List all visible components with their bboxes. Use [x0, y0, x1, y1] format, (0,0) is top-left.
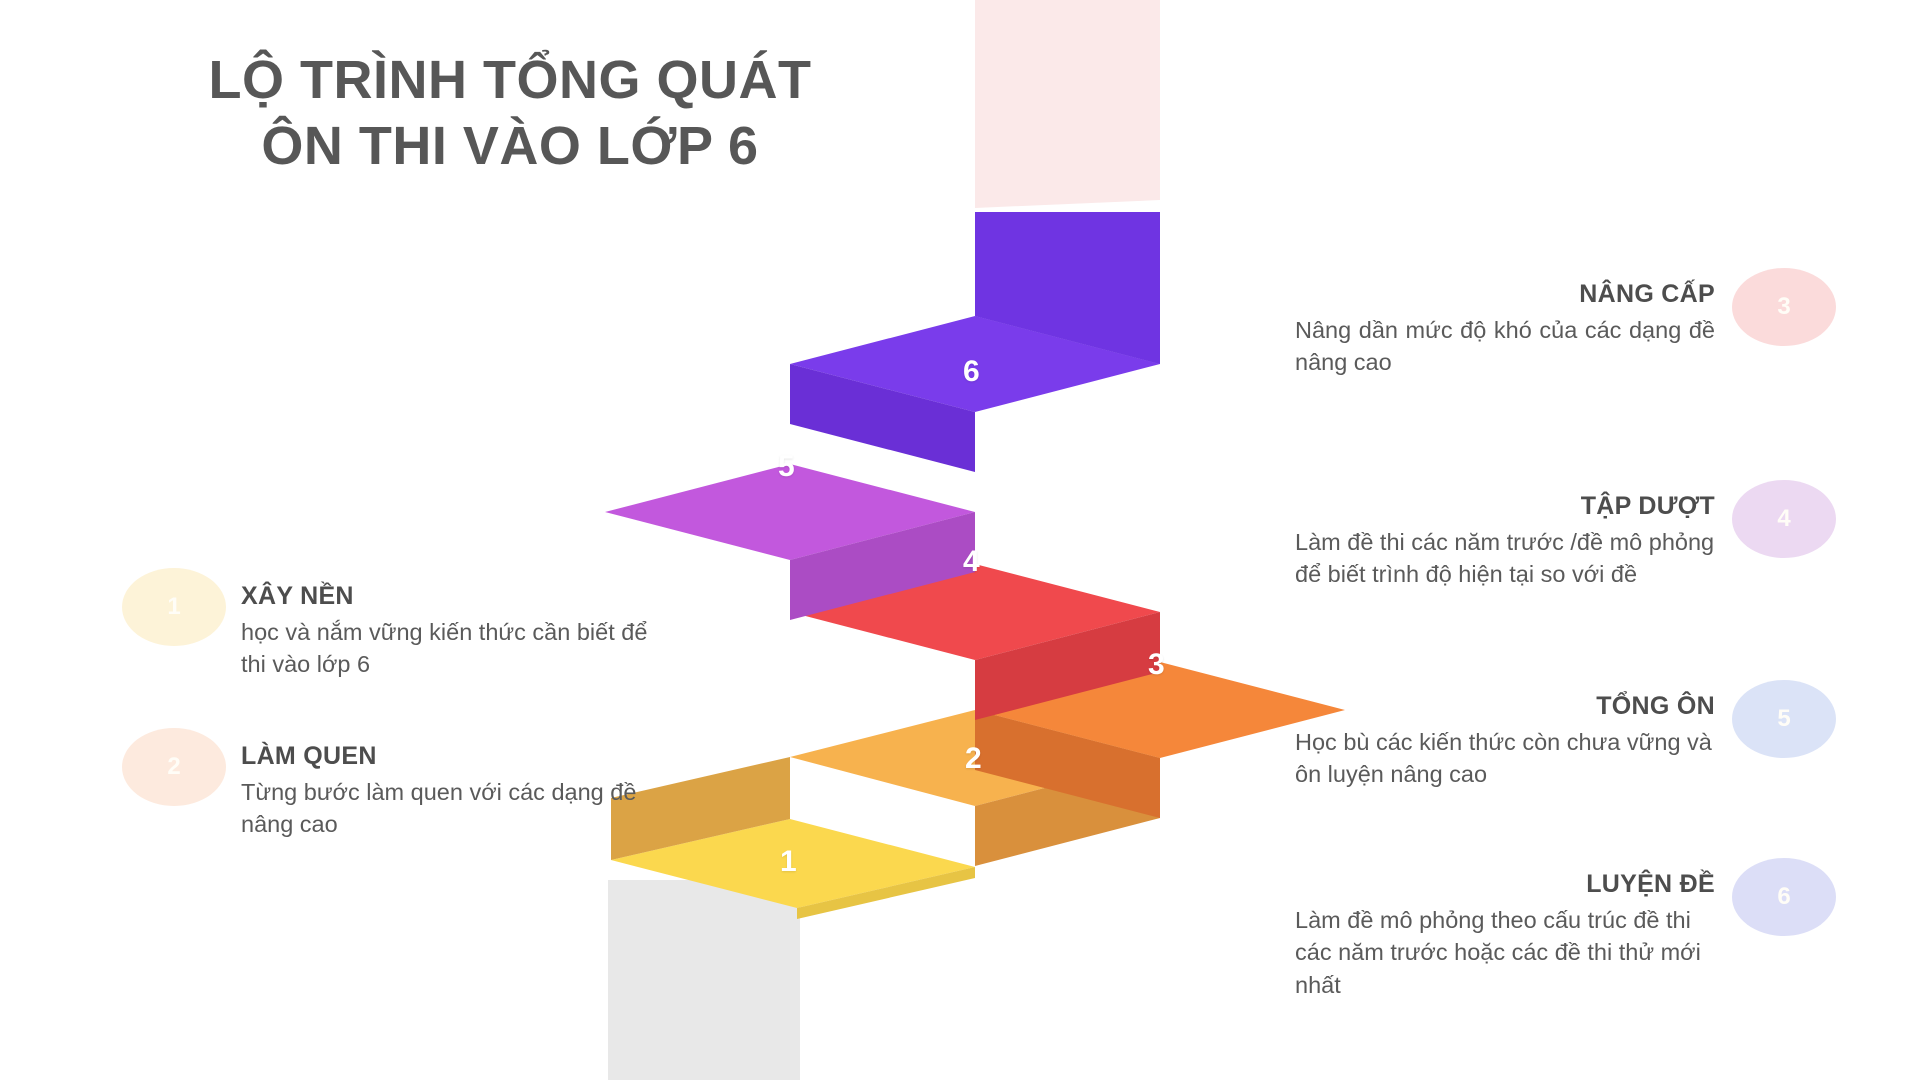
item-desc-5: Học bù các kiến thức còn chưa vững và ôn… [1295, 726, 1715, 791]
item-desc-6: Làm đề mô phỏng theo cấu trúc đề thi các… [1295, 904, 1715, 1001]
badge-1[interactable]: 1 [133, 578, 215, 636]
base-block [608, 873, 800, 1080]
badge-2[interactable]: 2 [133, 738, 215, 796]
item-title-4: TẬP DƯỢT [1581, 492, 1715, 521]
badge-3[interactable]: 3 [1743, 278, 1825, 336]
badge-number-6: 6 [1777, 883, 1790, 911]
badge-number-4: 4 [1777, 505, 1790, 533]
item-desc-1: học và nắm vững kiến thức cần biết để th… [241, 616, 661, 681]
badge-number-5: 5 [1777, 705, 1790, 733]
item-title-3: NÂNG CẤP [1579, 280, 1715, 309]
item-title-1: XÂY NỀN [241, 582, 354, 611]
badge-6[interactable]: 6 [1743, 868, 1825, 926]
infographic-canvas: LỘ TRÌNH TỔNG QUÁT ÔN THI VÀO LỚP 6 [0, 0, 1920, 1080]
badge-number-3: 3 [1777, 293, 1790, 321]
badge-number-1: 1 [167, 593, 180, 621]
badge-5[interactable]: 5 [1743, 690, 1825, 748]
item-title-5: TỔNG ÔN [1596, 692, 1715, 721]
item-desc-3: Nâng dần mức độ khó của các dạng đề nâng… [1295, 314, 1715, 379]
item-title-6: LUYỆN ĐỀ [1586, 870, 1715, 899]
top-slab [975, 0, 1160, 208]
item-title-2: LÀM QUEN [241, 742, 377, 771]
badge-4[interactable]: 4 [1743, 490, 1825, 548]
item-desc-2: Từng bước làm quen với các dạng đề nâng … [241, 776, 661, 841]
item-desc-4: Làm đề thi các năm trước /đề mô phỏng để… [1295, 526, 1715, 591]
badge-number-2: 2 [167, 753, 180, 781]
step-6 [790, 212, 1160, 472]
